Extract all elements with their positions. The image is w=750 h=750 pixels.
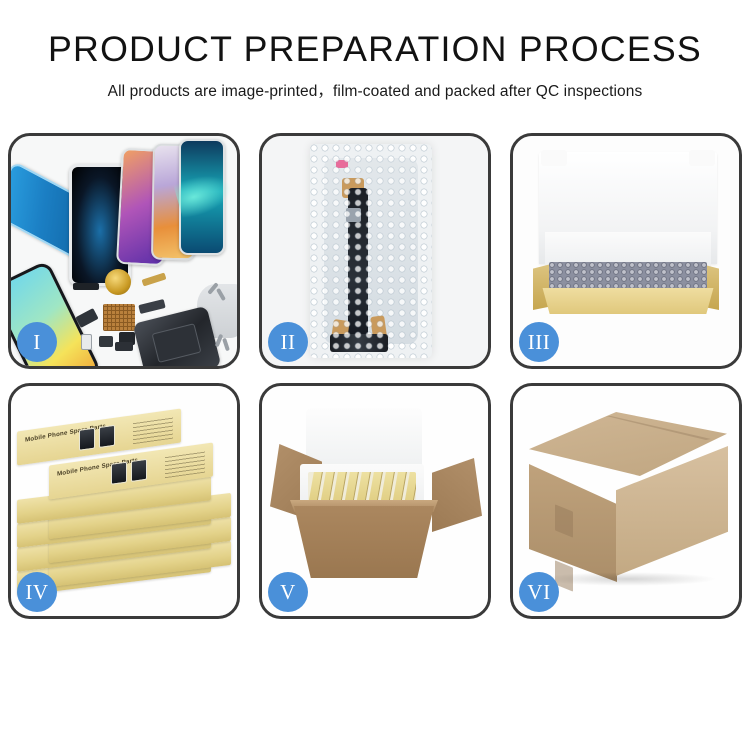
step-badge-1: I bbox=[17, 322, 57, 362]
box-phone-graphic bbox=[111, 462, 127, 485]
chip-grid-part bbox=[103, 304, 135, 331]
box-spec-lines bbox=[133, 417, 173, 445]
process-step-grid: I II bbox=[8, 133, 742, 619]
step-badge-6: VI bbox=[519, 572, 559, 612]
carton-drop-shadow bbox=[539, 572, 717, 586]
process-step-2[interactable]: II bbox=[259, 133, 491, 369]
bubble-wrap-bag bbox=[310, 144, 432, 358]
kraft-tray-front bbox=[539, 288, 717, 314]
box-phone-graphic bbox=[79, 428, 95, 451]
carton-flap-right bbox=[432, 458, 482, 532]
process-step-1[interactable]: I bbox=[8, 133, 240, 369]
page-subtitle: All products are image-printed，film-coat… bbox=[0, 79, 750, 101]
header: PRODUCT PREPARATION PROCESS All products… bbox=[0, 0, 750, 101]
box-phone-graphic bbox=[99, 425, 115, 448]
box-spec-lines bbox=[165, 451, 205, 479]
phone-screen-teal bbox=[179, 139, 225, 255]
small-part-sim-tray bbox=[81, 334, 92, 350]
step-badge-2: II bbox=[268, 322, 308, 362]
screw-part-2 bbox=[222, 338, 230, 352]
small-part-ribbon bbox=[138, 299, 165, 314]
retail-box-stack: Mobile Phone Spare Parts Mobile Phone Sp… bbox=[15, 402, 235, 602]
phone-back-housing bbox=[133, 306, 222, 366]
process-step-3[interactable]: III bbox=[510, 133, 742, 369]
small-part-flex-cable bbox=[142, 272, 167, 286]
step-badge-4: IV bbox=[17, 572, 57, 612]
page-title: PRODUCT PREPARATION PROCESS bbox=[0, 30, 750, 70]
carton-left-face bbox=[529, 464, 617, 582]
small-part-bracket bbox=[75, 308, 98, 328]
step-badge-3: III bbox=[519, 322, 559, 362]
small-part-shield bbox=[115, 342, 133, 351]
process-step-4[interactable]: Mobile Phone Spare Parts Mobile Phone Sp… bbox=[8, 383, 240, 619]
gold-coil-part bbox=[105, 269, 131, 295]
process-step-6[interactable]: VI bbox=[510, 383, 742, 619]
step-badge-5: V bbox=[268, 572, 308, 612]
process-step-5[interactable]: V bbox=[259, 383, 491, 619]
bubble-wrap-overlay bbox=[310, 144, 432, 358]
carton-body bbox=[294, 506, 434, 578]
small-part-camera bbox=[99, 336, 113, 347]
product-preparation-infographic: PRODUCT PREPARATION PROCESS All products… bbox=[0, 0, 750, 750]
small-part-connector bbox=[73, 283, 99, 290]
box-phone-graphic bbox=[131, 459, 147, 482]
